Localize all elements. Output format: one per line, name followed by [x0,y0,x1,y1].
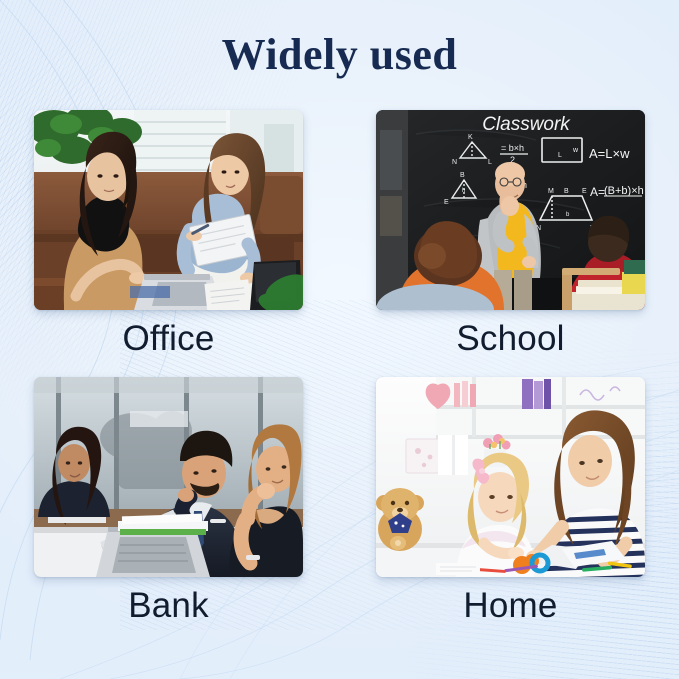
grid-item-home: Home [376,377,645,626]
svg-text:Classwork: Classwork [482,114,571,135]
office-photo [34,110,303,310]
svg-text:w: w [572,147,579,154]
svg-text:L: L [488,159,492,166]
grid-item-office: Office [34,110,303,359]
svg-text:M: M [548,188,554,195]
svg-text:= b×h: = b×h [501,143,524,153]
page-root: Widely used [0,0,679,679]
school-photo: Classwork K N L B E h [376,110,645,310]
caption-office: Office [34,310,303,359]
svg-text:A=: A= [590,185,605,199]
svg-text:A=L×w: A=L×w [589,146,630,161]
svg-text:E: E [444,199,449,206]
caption-school: School [376,310,645,359]
caption-home: Home [376,577,645,626]
bank-photo [34,377,303,577]
svg-text:B: B [460,172,465,179]
grid-item-bank: Bank [34,377,303,626]
svg-text:(B+b)×h: (B+b)×h [604,185,644,197]
page-title: Widely used [34,0,645,77]
home-photo [376,377,645,577]
svg-text:h: h [462,188,465,194]
svg-text:N: N [452,159,457,166]
svg-text:K: K [468,134,473,141]
caption-bank: Bank [34,577,303,626]
svg-text:L: L [558,152,562,159]
svg-text:E: E [582,188,587,195]
grid-item-school: Classwork K N L B E h [376,110,645,359]
svg-text:B: B [564,188,569,195]
use-case-grid: Office [34,110,645,627]
